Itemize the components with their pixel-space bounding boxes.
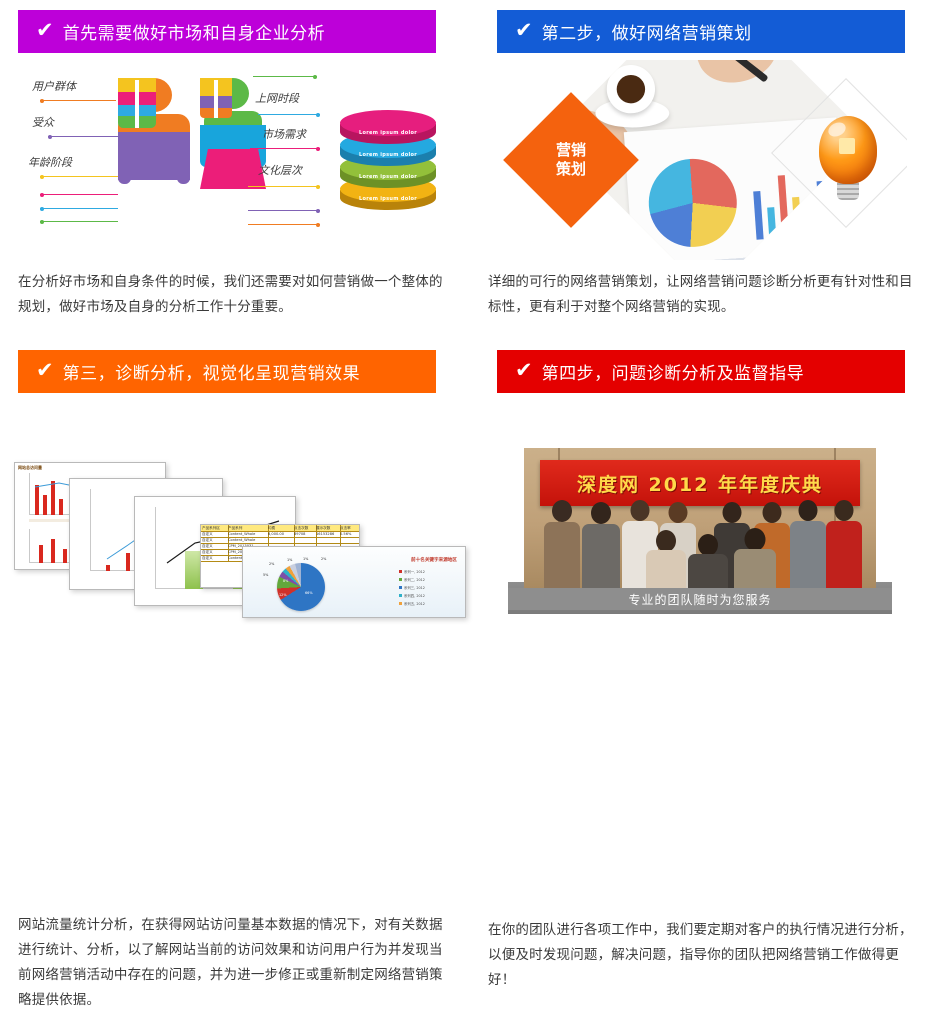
puzzle-piece-icon xyxy=(839,138,855,154)
leader-line-11 xyxy=(248,210,320,211)
label-user-group: 用户群体 xyxy=(32,78,76,94)
legend-item: 系列四, 2012 xyxy=(399,593,459,598)
person xyxy=(790,500,826,588)
label-age-stage: 年龄阶段 xyxy=(28,154,72,170)
team-photo: 深度网 2012 年年度庆典 xyxy=(524,448,876,588)
person xyxy=(582,502,620,588)
label-online-time: 上网时段 xyxy=(255,90,299,106)
pie-slice-label: 1% xyxy=(303,557,308,561)
check-icon: ✔ xyxy=(515,20,533,41)
panel-4-header: ✔ 第四步，问题诊断分析及监督指导 xyxy=(497,350,905,393)
person xyxy=(826,500,862,588)
panel-2-body-text: 详细的可行的网络营销策划，让网络营销问题诊断分析更有针对性和目标性，更有利于对整… xyxy=(488,270,916,320)
pie-slice-label: 66% xyxy=(305,591,313,595)
check-icon: ✔ xyxy=(36,20,54,41)
person xyxy=(688,534,728,588)
leader-line-3 xyxy=(40,176,118,177)
man-arm-left xyxy=(118,132,131,184)
check-icon: ✔ xyxy=(515,360,533,381)
figure-man xyxy=(118,78,190,228)
coffee-cup xyxy=(607,65,655,113)
pie-slice-label: 1% xyxy=(287,558,292,562)
label-culture-level: 文化层次 xyxy=(258,162,302,178)
leader-line-1 xyxy=(40,100,116,101)
person xyxy=(734,528,776,588)
leader-line-6 xyxy=(40,221,118,222)
cylinder-1: Lorem ipsum dolor xyxy=(340,110,436,144)
pie-slice-label: 2% xyxy=(269,562,274,566)
panel-4-body-text: 在你的团队进行各项工作中，我们要定期对客户的执行情况进行分析，以便及时发现问题，… xyxy=(488,918,916,993)
panel-4-illustration: 深度网 2012 年年度庆典 xyxy=(467,398,934,603)
legend-item: 系列二, 2012 xyxy=(399,577,459,582)
man-arm-right xyxy=(177,132,190,184)
panel-2-illustration: 营销策划 xyxy=(467,58,934,263)
cylinder-stack: Lorem ipsum dolor Lorem ipsum dolor Lore… xyxy=(340,110,436,220)
panel-2-header: ✔ 第二步，做好网络营销策划 xyxy=(497,10,905,53)
leader-line-5 xyxy=(40,208,118,209)
person xyxy=(544,500,580,588)
pie-slice-label: 5% xyxy=(263,573,268,577)
leader-line-7 xyxy=(253,76,317,77)
panel-step-1: ✔ 首先需要做好市场和自身企业分析 用户群体 受众 年龄阶段 xyxy=(0,0,467,340)
pie-chart-title: 前十名关键字来源地区 xyxy=(411,557,457,563)
photo-caption-text: 专业的团队随时为您服务 xyxy=(628,591,771,608)
panel-2-title: 第二步，做好网络营销策划 xyxy=(542,19,752,44)
panel-1-header: ✔ 首先需要做好市场和自身企业分析 xyxy=(18,10,436,53)
cylinder-1-label: Lorem ipsum dolor xyxy=(340,130,436,136)
panel-1-illustration: 用户群体 受众 年龄阶段 xyxy=(0,58,467,263)
photo-caption-bar: 专业的团队随时为您服务 xyxy=(508,588,892,610)
panel-step-2: ✔ 第二步，做好网络营销策划 xyxy=(467,0,934,340)
pie-slice-label: 12% xyxy=(279,593,287,597)
team-members xyxy=(538,498,862,588)
leader-line-4 xyxy=(40,194,118,195)
woman-skirt xyxy=(200,149,266,189)
panel-3-body-text: 网站流量统计分析，在获得网站访问量基本数据的情况下，对有关数据进行统计、分析，以… xyxy=(18,913,446,1013)
marketing-steps-page: ✔ 首先需要做好市场和自身企业分析 用户群体 受众 年龄阶段 xyxy=(0,0,934,679)
legend-item: 系列三, 2012 xyxy=(399,585,459,590)
panel-4-title: 第四步，问题诊断分析及监督指导 xyxy=(542,359,805,384)
pie-slice-label: 8% xyxy=(283,579,288,583)
photo-composition: 营销策划 xyxy=(487,60,907,260)
panel-1-title: 首先需要做好市场和自身企业分析 xyxy=(63,19,326,44)
pie-slice-label: 2% xyxy=(321,557,326,561)
cylinder-2-label: Lorem ipsum dolor xyxy=(340,152,436,158)
man-legs xyxy=(118,78,156,128)
lightbulb-group xyxy=(793,100,907,220)
leader-line-9 xyxy=(250,148,320,149)
paper-text-lines xyxy=(647,252,833,260)
pie-chart-legend: 系列一, 2012 系列二, 2012 系列三, 2012 系列四, 2012 … xyxy=(399,569,459,609)
legend-item: 系列五, 2012 xyxy=(399,601,459,606)
pie-chart xyxy=(277,563,325,611)
banner-text: 深度网 2012 年年度庆典 xyxy=(577,470,823,497)
woman-legs xyxy=(200,78,232,118)
team-photo-block: 深度网 2012 年年度庆典 xyxy=(524,448,876,624)
panel-3-header: ✔ 第三，诊断分析，视觉化呈现营销效果 xyxy=(18,350,436,393)
panel-1-body-text: 在分析好市场和自身条件的时候，我们还需要对如何营销做一个整体的规划，做好市场及自… xyxy=(18,270,446,320)
cylinder-3-label: Lorem ipsum dolor xyxy=(340,174,436,180)
panel-step-3: ✔ 第三，诊断分析，视觉化呈现营销效果 网站总访问量 xyxy=(0,340,467,679)
label-audience: 受众 xyxy=(32,114,54,130)
leader-line-2 xyxy=(48,136,118,137)
check-icon: ✔ xyxy=(36,360,54,381)
person xyxy=(646,530,686,588)
panel-step-4: ✔ 第四步，问题诊断分析及监督指导 深度网 2012 年年度庆典 xyxy=(467,340,934,679)
card-1-title: 网站总访问量 xyxy=(18,465,42,471)
label-market-demand: 市场需求 xyxy=(262,126,306,142)
legend-item: 系列一, 2012 xyxy=(399,569,459,574)
panel-3-illustration: 网站总访问量 xyxy=(0,398,467,603)
badge-text: 营销策划 xyxy=(556,141,586,179)
leader-line-12 xyxy=(248,224,320,225)
paper-pie-chart xyxy=(646,156,740,250)
panel-3-title: 第三，诊断分析，视觉化呈现营销效果 xyxy=(63,359,361,384)
dashboard-card-5-pie: 前十名关键字来源地区 66% 12% 8% 5% 2% 1% 1% 2% 系列一… xyxy=(242,546,466,618)
leader-line-8 xyxy=(258,114,320,115)
dashboard-cascade: 网站总访问量 xyxy=(14,448,464,618)
leader-line-10 xyxy=(248,186,320,187)
cylinder-4-label: Lorem ipsum dolor xyxy=(340,196,436,202)
